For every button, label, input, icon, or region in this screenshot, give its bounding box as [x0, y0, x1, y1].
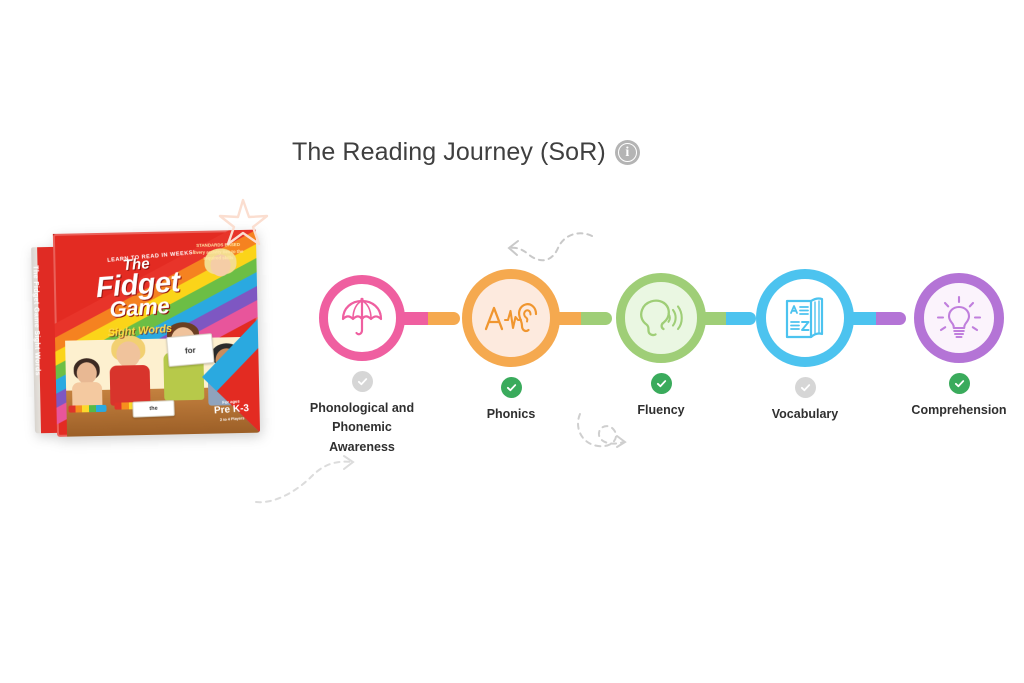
comprehension-label: Comprehension: [911, 401, 1006, 420]
phonological-label: Phonological and Phonemic Awareness: [299, 399, 425, 457]
phonics-status-check: [501, 377, 522, 398]
journey-step-vocabulary[interactable]: Vocabulary: [746, 269, 864, 424]
check-icon: [799, 381, 812, 394]
check-icon: [655, 377, 668, 390]
connector-vocabulary-comprehension: [846, 312, 906, 325]
journey-step-fluency[interactable]: Fluency: [606, 273, 716, 420]
journey-step-phonological[interactable]: Phonological and Phonemic Awareness: [299, 275, 425, 457]
fluency-label: Fluency: [637, 401, 684, 420]
phonics-label: Phonics: [487, 405, 536, 424]
info-icon-glyph: i: [625, 146, 629, 160]
letter-a-soundwave-ear-icon: [481, 298, 541, 338]
vocabulary-circle[interactable]: [756, 269, 854, 367]
box-age-badge: For ages Pre K-3 2 to 4 Players: [210, 397, 254, 423]
fluency-circle[interactable]: [616, 273, 706, 363]
box-child-illustration: [107, 335, 152, 406]
word-card-the: the: [132, 400, 175, 418]
comprehension-status-check: [949, 373, 970, 394]
umbrella-icon: [339, 295, 385, 341]
comprehension-circle[interactable]: [914, 273, 1004, 363]
info-icon[interactable]: i: [615, 140, 640, 165]
connector-phonological-phonics: [396, 312, 460, 325]
page-header: The Reading Journey (SoR) i: [292, 138, 640, 167]
product-box-front: for the LEARN TO READ IN WEEKS! The Fidg…: [53, 230, 260, 437]
fluency-status-check: [651, 373, 672, 394]
journey-step-phonics[interactable]: Phonics: [456, 269, 566, 424]
word-card-for: for: [166, 333, 215, 367]
box-child-illustration: [69, 358, 104, 411]
check-icon: [953, 377, 966, 390]
lightbulb-icon: [935, 294, 983, 342]
dictionary-book-icon: [781, 293, 829, 343]
speaking-head-icon: [635, 295, 687, 341]
phonological-circle[interactable]: [319, 275, 405, 361]
product-box-image: The Fidget Game Sight Words: [31, 230, 260, 443]
check-icon: [505, 381, 518, 394]
phonological-status-check: [352, 371, 373, 392]
page-title: The Reading Journey (SoR): [292, 138, 606, 167]
journey-step-comprehension[interactable]: Comprehension: [894, 273, 1024, 420]
star-outline-doodle: [216, 196, 270, 248]
box-title: The Fidget Game: [68, 253, 208, 324]
phonics-circle[interactable]: [462, 269, 560, 367]
vocabulary-status-check: [795, 377, 816, 398]
reading-journey-diagram: Phonological and Phonemic Awareness Phon…: [300, 250, 1010, 500]
box-age-badge-line2: Pre K-3: [210, 402, 253, 418]
vocabulary-label: Vocabulary: [772, 405, 838, 424]
check-icon: [356, 375, 369, 388]
